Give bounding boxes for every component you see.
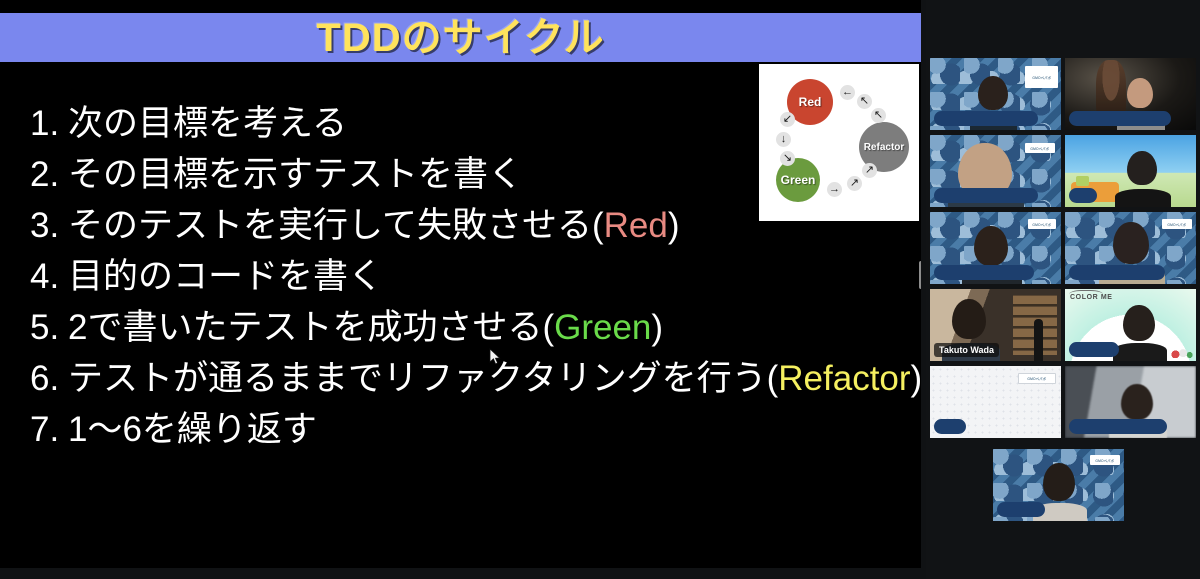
participant-name-badge bbox=[1069, 111, 1171, 126]
participant-name-badge bbox=[1069, 419, 1167, 434]
step-number: 1. bbox=[30, 98, 68, 149]
participant-tile[interactable]: GMOペパボ bbox=[930, 212, 1061, 284]
participant-tile[interactable] bbox=[1065, 58, 1196, 130]
org-logo-chip: GMOペパボ bbox=[1028, 219, 1056, 229]
participant-tile[interactable]: GMOペパボ bbox=[930, 135, 1061, 207]
step-text-tail: ) bbox=[668, 206, 680, 245]
tdd-cycle-diagram: Red Refactor Green ← ↖ ↖ ↙ ↓ ↘ → ↗ ↗ bbox=[759, 64, 919, 221]
step-number: 6. bbox=[30, 353, 68, 404]
arrow-upleft-icon: ↖ bbox=[871, 108, 886, 123]
arrow-right-icon: → bbox=[827, 182, 842, 197]
participant-name-badge bbox=[934, 188, 1038, 203]
list-item: 5.2で書いたテストを成功させる(Green) bbox=[30, 302, 910, 353]
participant-name-badge bbox=[934, 265, 1034, 280]
participant-tile[interactable]: GMOペパボ bbox=[930, 366, 1061, 438]
video-row: GMOペパボ bbox=[930, 366, 1196, 438]
slide-title-band: TDDのサイクル bbox=[0, 13, 921, 62]
video-row: GMOペパボ bbox=[993, 449, 1124, 521]
participant-tile-active-speaker[interactable]: Takuto Wada bbox=[930, 289, 1061, 361]
arrow-down-icon: ↓ bbox=[776, 132, 791, 147]
org-logo-text: GMOペパボ bbox=[1033, 222, 1052, 227]
keyword-refactor: Refactor bbox=[778, 359, 910, 398]
step-number: 7. bbox=[30, 404, 68, 455]
list-item: 4.目的のコードを書く bbox=[30, 251, 910, 302]
keyword-red: Red bbox=[604, 206, 668, 245]
participant-name-badge bbox=[1069, 188, 1097, 203]
arrow-upleft-icon: ↖ bbox=[857, 94, 872, 109]
participant-name-badge bbox=[1069, 265, 1165, 280]
video-row: Takuto Wada COLOR ME bbox=[930, 289, 1196, 361]
participant-name-badge bbox=[934, 419, 966, 434]
list-item: 6.テストが通るままでリファクタリングを行う(Refactor) bbox=[30, 353, 910, 404]
step-text: 1〜6を繰り返す bbox=[68, 410, 317, 449]
participant-tile[interactable]: COLOR ME bbox=[1065, 289, 1196, 361]
mouse-cursor-icon bbox=[489, 348, 501, 366]
step-number: 4. bbox=[30, 251, 68, 302]
participant-tile[interactable] bbox=[1065, 135, 1196, 207]
step-text: 次の目標を考える bbox=[68, 104, 347, 143]
step-text: そのテストを実行して失敗させる( bbox=[68, 206, 604, 245]
list-item: 7.1〜6を繰り返す bbox=[30, 404, 910, 455]
participant-tile[interactable]: GMOペパボ bbox=[930, 58, 1061, 130]
org-logo-chip: GMOペパボ bbox=[1162, 219, 1192, 229]
arrow-downright-icon: ↘ bbox=[780, 151, 795, 166]
participant-name-badge bbox=[1069, 342, 1119, 357]
participant-video-panel: GMOペパボ GMOペパボ bbox=[926, 0, 1200, 579]
arrow-left-icon: ← bbox=[840, 85, 855, 100]
video-row: GMOペパボ bbox=[930, 58, 1196, 130]
org-logo-chip: GMOペパボ bbox=[1025, 143, 1055, 153]
step-text: その目標を示すテストを書く bbox=[68, 155, 523, 194]
org-logo-text: GMOペパボ bbox=[1168, 222, 1187, 227]
org-logo-chip: GMOペパボ bbox=[1025, 66, 1058, 88]
slide-scrollbar[interactable] bbox=[919, 261, 921, 289]
participant-name: Takuto Wada bbox=[939, 345, 994, 355]
org-logo-text: GMOペパボ bbox=[1032, 75, 1051, 80]
org-logo-chip: GMOペパボ bbox=[1018, 373, 1056, 384]
arrow-downleft-icon: ↙ bbox=[780, 112, 795, 127]
participant-tile[interactable]: GMOペパボ bbox=[993, 449, 1124, 521]
decoration-icon bbox=[1171, 346, 1193, 358]
step-number: 3. bbox=[30, 200, 68, 251]
participant-name-badge bbox=[997, 502, 1045, 517]
arrow-upright-icon: ↗ bbox=[847, 176, 862, 191]
screen-share-meeting-window: TDDのサイクル 1.次の目標を考える 2.その目標を示すテストを書く 3.その… bbox=[0, 0, 1200, 579]
participant-tile[interactable] bbox=[1065, 366, 1196, 438]
org-logo-text: GMOペパボ bbox=[1031, 146, 1050, 151]
video-row: GMOペパボ bbox=[930, 135, 1196, 207]
shared-slide-region[interactable]: TDDのサイクル 1.次の目標を考える 2.その目標を示すテストを書く 3.その… bbox=[0, 0, 921, 568]
participant-name-badge bbox=[934, 111, 1038, 126]
keyword-green: Green bbox=[554, 308, 651, 347]
step-number: 5. bbox=[30, 302, 68, 353]
org-logo-chip: GMOペパボ bbox=[1090, 455, 1120, 465]
step-text: 2で書いたテストを成功させる( bbox=[68, 308, 554, 347]
step-number: 2. bbox=[30, 149, 68, 200]
org-logo-text: COLOR ME bbox=[1070, 294, 1113, 301]
participant-name-badge: Takuto Wada bbox=[934, 343, 999, 357]
slide-title: TDDのサイクル bbox=[316, 18, 604, 58]
step-text: テストが通るままでリファクタリングを行う( bbox=[68, 359, 778, 398]
step-text-tail: ) bbox=[651, 308, 663, 347]
participant-tile[interactable]: GMOペパボ bbox=[1065, 212, 1196, 284]
video-row: GMOペパボ GMOペパボ bbox=[930, 212, 1196, 284]
arrow-upright-icon: ↗ bbox=[862, 163, 877, 178]
org-logo-text: GMOペパボ bbox=[1028, 376, 1047, 381]
org-logo-text: GMOペパボ bbox=[1096, 458, 1115, 463]
step-text-tail: ) bbox=[911, 359, 921, 398]
step-text: 目的のコードを書く bbox=[68, 257, 383, 296]
